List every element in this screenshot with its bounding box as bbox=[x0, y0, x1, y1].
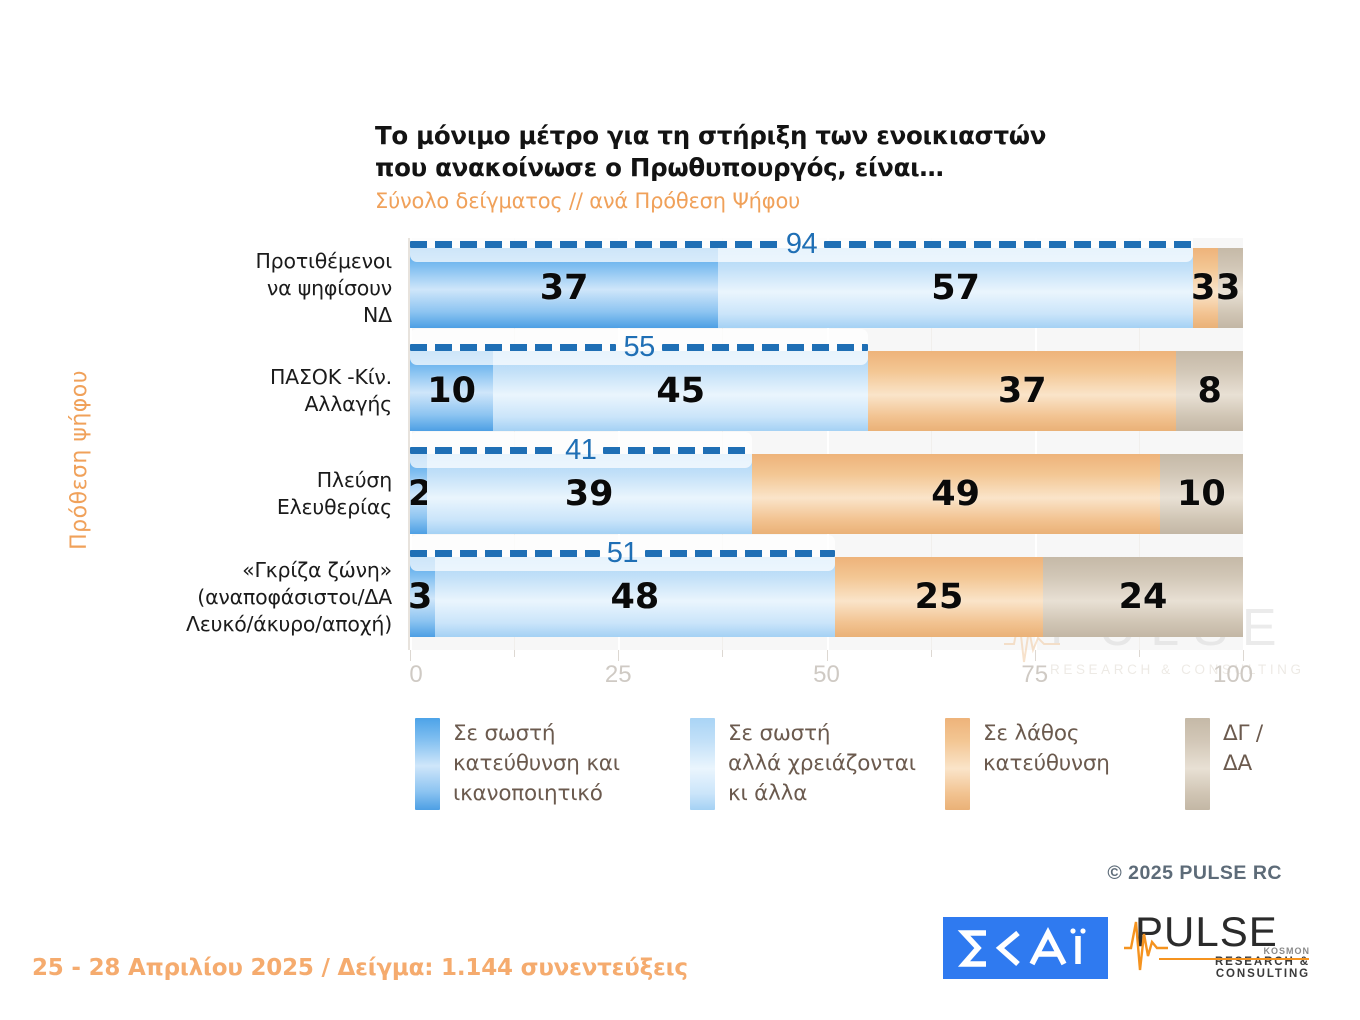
callout-value: 55 bbox=[623, 331, 654, 364]
category-label: «Γκρίζα ζώνη» (αναποφάσιστοι/ΔΑ Λευκό/άκ… bbox=[186, 557, 392, 638]
gridline bbox=[1243, 238, 1245, 650]
legend-item[interactable]: Σε σωστή αλλά χρειάζονται κι άλλα bbox=[690, 718, 916, 810]
x-tick-label: 0 bbox=[409, 661, 422, 689]
pulse-waveform-icon bbox=[1123, 914, 1169, 976]
legend-swatch bbox=[690, 718, 715, 810]
callout-dash-left bbox=[410, 344, 616, 351]
bar-segment: 3 bbox=[1218, 248, 1243, 328]
x-tick-mark bbox=[514, 650, 515, 657]
bar-segment: 25 bbox=[835, 557, 1043, 637]
pulse-logo: PULSE KOSMON RESEARCH & CONSULTING bbox=[1135, 910, 1310, 988]
bar-segment-value: 57 bbox=[931, 268, 980, 308]
x-tick-label: 75 bbox=[1021, 661, 1048, 689]
bar-segment-value: 37 bbox=[998, 371, 1047, 411]
callout-value: 94 bbox=[786, 228, 817, 261]
legend-label: Σε λάθος κατεύθυνση bbox=[983, 718, 1110, 810]
bar-segment-value: 24 bbox=[1119, 577, 1168, 617]
legend-label: Σε σωστή κατεύθυνση και ικανοποιητικό bbox=[453, 718, 620, 810]
total-callout: 51 bbox=[410, 535, 835, 571]
bar-segment-value: 8 bbox=[1197, 371, 1221, 411]
legend-label: Σε σωστή αλλά χρειάζονται κι άλλα bbox=[728, 718, 916, 810]
bar-segment: 8 bbox=[1176, 351, 1243, 431]
bar-segment-value: 3 bbox=[408, 577, 432, 617]
callout-dash-right bbox=[603, 447, 751, 454]
total-callout: 55 bbox=[410, 329, 868, 365]
callout-dash-left bbox=[410, 550, 600, 557]
callout-value: 51 bbox=[607, 537, 638, 570]
title-block: Το μόνιμο μέτρο για τη στήριξη των ενοικ… bbox=[375, 120, 1055, 213]
pulse-logo-kosmon: KOSMON bbox=[1264, 946, 1311, 956]
chart-subtitle: Σύνολο δείγματος // ανά Πρόθεση Ψήφου bbox=[375, 189, 1055, 213]
bar-segment-value: 3 bbox=[1216, 268, 1240, 308]
bar-segment: 37 bbox=[868, 351, 1176, 431]
callout-dash-left bbox=[410, 241, 779, 248]
bar-segment: 49 bbox=[752, 454, 1160, 534]
legend-item[interactable]: Σε σωστή κατεύθυνση και ικανοποιητικό bbox=[415, 718, 620, 810]
total-callout: 41 bbox=[410, 432, 752, 468]
x-tick-label: 100 bbox=[1213, 661, 1253, 689]
bar-segment-value: 39 bbox=[565, 474, 614, 514]
bar-segment-value: 10 bbox=[427, 371, 476, 411]
legend-swatch bbox=[415, 718, 440, 810]
x-tick-mark bbox=[410, 650, 411, 661]
category-label-column: Προτιθέμενοι να ψηφίσουν ΝΔΠΑΣΟΚ -Κίν. Α… bbox=[135, 238, 393, 650]
footer-date-sample: 25 - 28 Απριλίου 2025 / Δείγμα: 1.144 συ… bbox=[32, 955, 688, 981]
bar-segment: 3 bbox=[1193, 248, 1218, 328]
x-tick-label: 50 bbox=[813, 661, 840, 689]
bar-segment-value: 10 bbox=[1177, 474, 1226, 514]
legend-item[interactable]: ΔΓ / ΔΑ bbox=[1185, 718, 1263, 810]
y-axis-title: Πρόθεση ψήφου bbox=[62, 335, 96, 585]
x-tick-mark bbox=[1139, 650, 1140, 657]
copyright-text: © 2025 PULSE RC bbox=[1107, 862, 1282, 885]
x-tick-mark bbox=[1035, 650, 1036, 661]
total-callout: 94 bbox=[410, 226, 1193, 262]
category-label: Προτιθέμενοι να ψηφίσουν ΝΔ bbox=[255, 248, 392, 329]
chart-legend: Σε σωστή κατεύθυνση και ικανοποιητικόΣε … bbox=[415, 718, 1275, 828]
callout-value: 41 bbox=[565, 434, 596, 467]
bar-segment: 24 bbox=[1043, 557, 1243, 637]
pulse-logo-rule bbox=[1159, 958, 1309, 960]
skai-logo bbox=[943, 917, 1108, 979]
x-tick-mark bbox=[931, 650, 932, 657]
bar-segment-value: 48 bbox=[611, 577, 660, 617]
legend-swatch bbox=[945, 718, 970, 810]
x-tick-mark bbox=[827, 650, 828, 661]
callout-dash-right bbox=[662, 344, 868, 351]
x-axis: 0255075100 bbox=[410, 650, 1243, 696]
legend-label: ΔΓ / ΔΑ bbox=[1223, 718, 1263, 810]
x-tick-mark bbox=[722, 650, 723, 657]
legend-swatch bbox=[1185, 718, 1210, 810]
bar-segment-value: 3 bbox=[1191, 268, 1215, 308]
page-title: Το μόνιμο μέτρο για τη στήριξη των ενοικ… bbox=[375, 120, 1055, 184]
legend-item[interactable]: Σε λάθος κατεύθυνση bbox=[945, 718, 1110, 810]
skai-logo-glyph bbox=[956, 926, 1096, 970]
bar-segment: 10 bbox=[1160, 454, 1243, 534]
callout-dash-right bbox=[824, 241, 1193, 248]
bar-segment-value: 45 bbox=[656, 371, 705, 411]
x-tick-label: 25 bbox=[605, 661, 632, 689]
x-tick-mark bbox=[618, 650, 619, 661]
x-tick-mark bbox=[1243, 650, 1244, 661]
chart-plot-area: PULSE RESEARCH & CONSULTING 375733104537… bbox=[410, 238, 1243, 650]
y-axis-title-label: Πρόθεση ψήφου bbox=[67, 370, 92, 550]
callout-dash-left bbox=[410, 447, 558, 454]
bar-segment-value: 37 bbox=[540, 268, 589, 308]
bar-segment-value: 25 bbox=[915, 577, 964, 617]
bar-segment-value: 49 bbox=[931, 474, 980, 514]
category-label: ΠΑΣΟΚ -Κίν. Αλλαγής bbox=[270, 364, 392, 418]
callout-dash-right bbox=[645, 550, 835, 557]
category-label: Πλεύση Ελευθερίας bbox=[277, 467, 392, 521]
